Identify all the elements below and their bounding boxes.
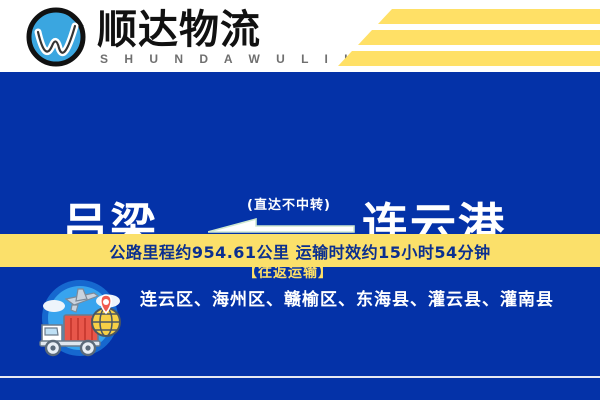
direct-service-note: (直达不中转) (247, 194, 331, 213)
distance-duration-text: 公路里程约954.61公里 运输时效约15小时54分钟 (0, 234, 600, 267)
truck-globe-airplane-icon (28, 275, 132, 361)
decorative-stripe-3 (338, 51, 600, 66)
brand-name: 顺达物流 (97, 8, 261, 52)
coverage-districts: 连云区、海州区、赣榆区、东海县、灌云县、灌南县 (140, 277, 590, 317)
route-section: 吕梁 连云港 (直达不中转) 【往返运输】 (0, 72, 600, 234)
coverage-section: 连云区、海州区、赣榆区、东海县、灌云县、灌南县 (0, 267, 600, 377)
logistics-route-banner: 顺达物流 S H U N D A W U L I U 吕梁 连云港 (直达不中转… (0, 0, 600, 400)
circle-w-swoosh-logo-icon (25, 6, 87, 68)
decorative-stripe-2 (358, 30, 600, 45)
brand-pinyin: S H U N D A W U L I U (100, 52, 359, 66)
bottom-divider (0, 376, 600, 378)
banner-header: 顺达物流 S H U N D A W U L I U (0, 0, 600, 72)
decorative-stripe-1 (378, 9, 600, 24)
distance-duration-band: 公路里程约954.61公里 运输时效约15小时54分钟 (0, 234, 600, 267)
